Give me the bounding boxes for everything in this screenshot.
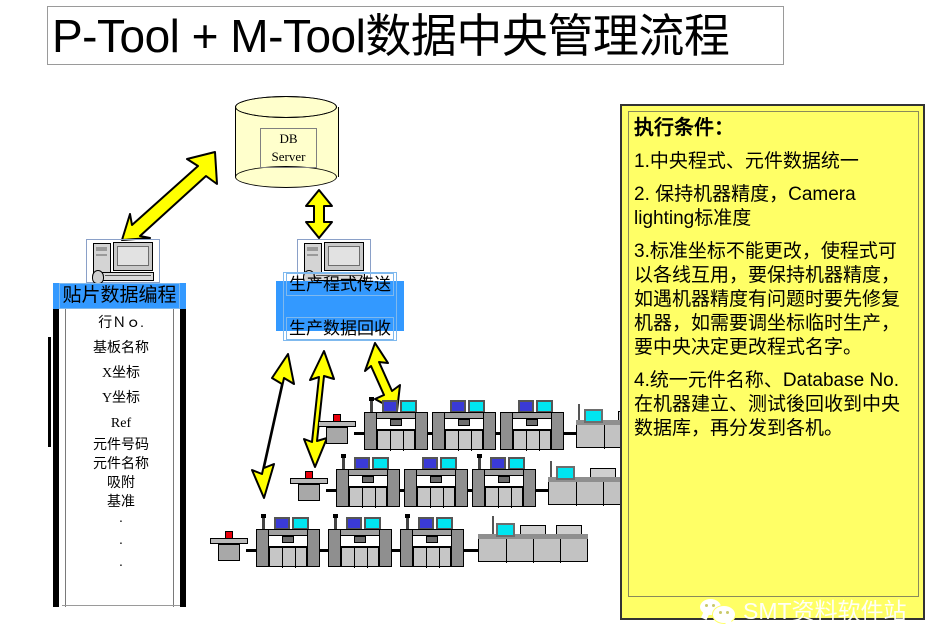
mounter-head (498, 476, 510, 483)
arrow-center-to-line-2 (302, 349, 338, 469)
mounter-column-left (500, 412, 513, 450)
list-left-bar (53, 309, 59, 607)
mounter-column-left (336, 469, 349, 507)
mounter-head (458, 419, 470, 426)
mounter-head (390, 419, 402, 426)
pc-keyboard-icon (102, 272, 154, 281)
condition-item: 3.标准坐标不能更改，使程式可以各线互用，要保持机器精度，如遇机器精度有问题时要… (634, 240, 913, 360)
transfer-line-1: 生产程式传送 (286, 273, 394, 296)
machine-loader (318, 412, 356, 444)
arrow-pc-to-db (118, 148, 230, 244)
list-item: 吸附 (67, 474, 175, 493)
mounter-head (362, 476, 374, 483)
condition-item: 1.中央程式、元件数据统一 (634, 150, 913, 174)
page-title: P-Tool + M-Tool数据中央管理流程 (48, 13, 729, 59)
mounter-body (513, 430, 551, 450)
conditions-text-frame: 执行条件： 1.中央程式、元件数据统一 2. 保持机器精度，Camera lig… (628, 111, 919, 597)
page-title-box: P-Tool + M-Tool数据中央管理流程 (47, 6, 784, 65)
machine-mounter (400, 517, 464, 567)
machine-mounter (364, 400, 428, 450)
mounter-body (485, 487, 523, 507)
db-label-line1: DB (261, 130, 316, 148)
db-label-line2: Server (261, 148, 316, 166)
mounter-column-right (387, 469, 400, 507)
oven-monitor-cyan (496, 523, 515, 537)
list-item: 行Ｎｏ. (67, 311, 175, 336)
arrow-db-to-pc-center (303, 188, 335, 240)
production-transfer-box: 生产程式传送 生产数据回收 (276, 281, 404, 331)
mounter-body (341, 547, 379, 567)
mounter-column-right (415, 412, 428, 450)
pc-monitor-icon (324, 242, 364, 271)
mounter-column-right (455, 469, 468, 507)
left-panel-header: 贴片数据编程 (53, 283, 186, 309)
mounter-column-left (256, 529, 269, 567)
left-panel-header-label: 贴片数据编程 (59, 283, 179, 309)
mounter-column-left (432, 412, 445, 450)
machine-mounter (256, 517, 320, 567)
machine-mounter (472, 457, 536, 507)
mounter-body (417, 487, 455, 507)
condition-item: 2. 保持机器精度，Camera lighting标准度 (634, 183, 913, 231)
mounter-column-right (307, 529, 320, 567)
transfer-line-2: 生产数据回收 (286, 317, 394, 340)
list-item: 基准 (67, 493, 175, 512)
mounter-column-left (404, 469, 417, 507)
machine-mounter (432, 400, 496, 450)
wechat-icon (700, 599, 736, 623)
mounter-body (349, 487, 387, 507)
cylinder-top-edge (235, 96, 337, 118)
mounter-column-right (379, 529, 392, 567)
programming-computer (86, 239, 158, 285)
machine-mounter (336, 457, 400, 507)
list-item: 元件名称 (67, 455, 175, 474)
db-server-label: DB Server (260, 128, 317, 168)
list-item: · (67, 534, 175, 556)
list-item: 基板名称 (67, 336, 175, 361)
list-outer-bar (48, 337, 51, 447)
loader-base (218, 544, 240, 561)
machine-loader (210, 529, 248, 561)
mounter-column-right (551, 412, 564, 450)
mounter-column-right (523, 469, 536, 507)
mounter-body (445, 430, 483, 450)
mounter-column-right (483, 412, 496, 450)
watermark: SMT资料软件站 (700, 596, 925, 626)
pc-monitor-icon (113, 242, 153, 271)
oven-monitor-cyan (556, 466, 575, 480)
production-transfer-label: 生产程式传送 生产数据回收 (283, 272, 397, 341)
list-item: · (67, 556, 175, 578)
mounter-column-right (451, 529, 464, 567)
mounter-head (526, 419, 538, 426)
mounter-head (282, 536, 294, 543)
oven-top-strip (478, 534, 588, 539)
mounter-head (430, 476, 442, 483)
mounter-column-left (364, 412, 377, 450)
programming-data-list: 行Ｎｏ. 基板名称 X坐标 Y坐标 Ref 元件号码 元件名称 吸附 基准 · … (53, 309, 186, 607)
machine-reflow-oven (478, 522, 588, 562)
loader-base (326, 427, 348, 444)
mounter-body (377, 430, 415, 450)
watermark-text: SMT资料软件站 (743, 598, 907, 624)
machine-mounter (500, 400, 564, 450)
oven-monitor-cyan (584, 409, 603, 423)
list-item: 元件号码 (67, 436, 175, 455)
conditions-heading: 执行条件： (634, 116, 913, 140)
mounter-head (426, 536, 438, 543)
conditions-panel: 执行条件： 1.中央程式、元件数据统一 2. 保持机器精度，Camera lig… (620, 104, 925, 620)
list-bottom-edge (62, 605, 180, 606)
mounter-column-left (328, 529, 341, 567)
list-item: Ref (67, 411, 175, 436)
cylinder-bottom (235, 166, 337, 188)
mounter-column-left (472, 469, 485, 507)
list-right-bar (180, 309, 186, 607)
mounter-body (269, 547, 307, 567)
mounter-body (413, 547, 451, 567)
condition-item: 4.统一元件名称、Database No. 在机器建立、测试後回收到中央数据库，… (634, 369, 913, 441)
list-item: · (67, 512, 175, 534)
mounter-head (354, 536, 366, 543)
pc-mouse-icon (92, 270, 104, 284)
machine-mounter (404, 457, 468, 507)
machine-mounter (328, 517, 392, 567)
machine-loader (290, 469, 328, 501)
db-server-cylinder: DB Server (235, 96, 339, 188)
loader-base (298, 484, 320, 501)
list-items: 行Ｎｏ. 基板名称 X坐标 Y坐标 Ref 元件号码 元件名称 吸附 基准 · … (67, 311, 175, 578)
list-item: Y坐标 (67, 386, 175, 411)
list-item: X坐标 (67, 361, 175, 386)
mounter-column-left (400, 529, 413, 567)
